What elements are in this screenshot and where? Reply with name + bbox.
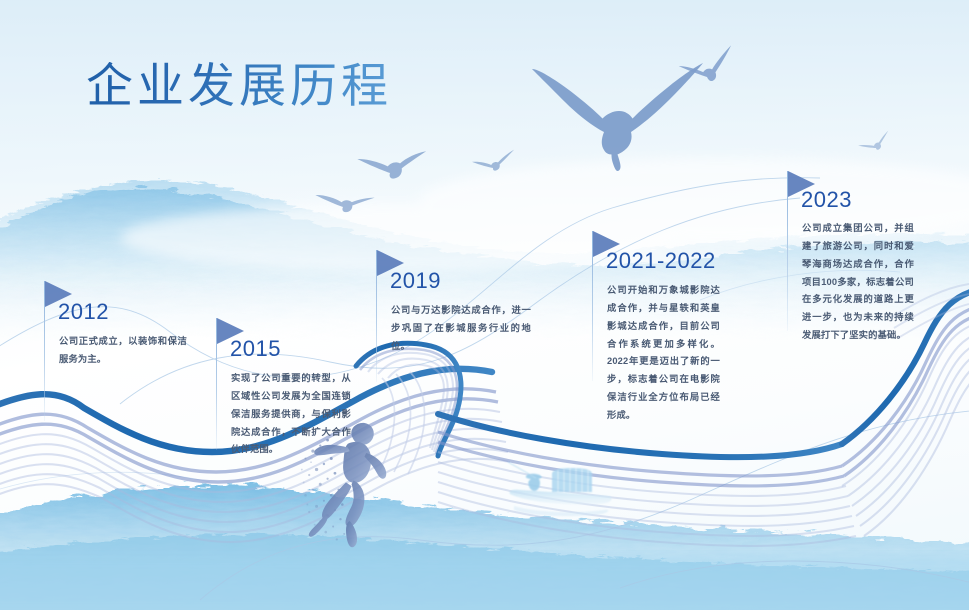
milestone-description: 公司开始和万象城影院达成合作，并与星轶和英皇影城达成合作，目前公司合作系统更加多… [607, 282, 720, 425]
milestone-description: 公司成立集团公司，并组建了旅游公司，同时和爱琴海商场达成合作，合作项目100多家… [802, 220, 914, 345]
milestone-description: 公司正式成立，以装饰和保洁服务为主。 [59, 333, 187, 369]
milestone-year: 2023 [801, 189, 852, 211]
milestone-year: 2012 [58, 301, 109, 323]
milestone-year: 2019 [390, 270, 441, 292]
milestone-description: 公司与万达影院达成合作，进一步巩固了在影城服务行业的地位。 [391, 302, 531, 356]
milestone-description: 实现了公司重要的转型，从区域性公司发展为全国连锁保洁服务提供商，与保利影院达成合… [231, 370, 351, 459]
page-title: 企业发展历程 [86, 62, 392, 109]
milestone-year: 2021-2022 [606, 250, 716, 272]
milestone-year: 2015 [230, 338, 281, 360]
timeline-poster: 企业发展历程 2012 公司正式成立，以装饰和保洁服务为主。 2015 实现了公… [0, 0, 969, 610]
